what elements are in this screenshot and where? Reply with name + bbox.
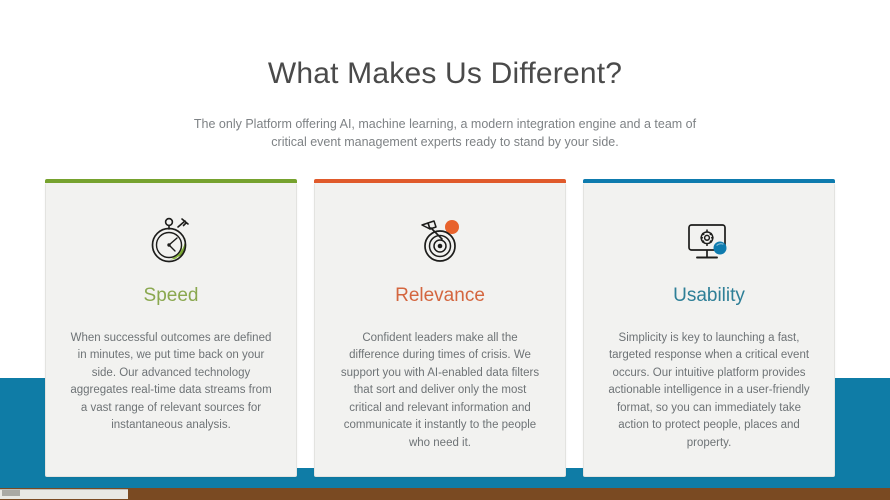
hero-section: What Makes Us Different? The only Platfo… <box>0 0 890 152</box>
card-accent-bar-speed <box>45 179 297 183</box>
horizontal-scrollbar[interactable] <box>0 489 128 499</box>
stopwatch-icon <box>64 213 278 271</box>
page-subtitle: The only Platform offering AI, machine l… <box>178 115 713 153</box>
target-arrow-icon <box>333 213 547 271</box>
feature-cards-row: Speed When successful outcomes are defin… <box>45 183 835 477</box>
scrollbar-thumb[interactable] <box>2 490 20 496</box>
card-accent-bar-usability <box>583 179 835 183</box>
card-accent-bar-relevance <box>314 179 566 183</box>
card-body-speed: When successful outcomes are defined in … <box>64 330 278 435</box>
feature-card-usability[interactable]: Usability Simplicity is key to launching… <box>583 183 835 477</box>
card-body-relevance: Confident leaders make all the differenc… <box>333 330 547 452</box>
bottom-strip <box>0 488 890 500</box>
page-root: What Makes Us Different? The only Platfo… <box>0 0 890 500</box>
card-title-speed: Speed <box>64 285 278 308</box>
card-title-relevance: Relevance <box>333 285 547 308</box>
feature-card-speed[interactable]: Speed When successful outcomes are defin… <box>45 183 297 477</box>
card-title-usability: Usability <box>602 285 816 308</box>
monitor-gear-icon <box>602 213 816 271</box>
feature-card-relevance[interactable]: Relevance Confident leaders make all the… <box>314 183 566 477</box>
page-title: What Makes Us Different? <box>0 55 890 93</box>
card-body-usability: Simplicity is key to launching a fast, t… <box>602 330 816 452</box>
